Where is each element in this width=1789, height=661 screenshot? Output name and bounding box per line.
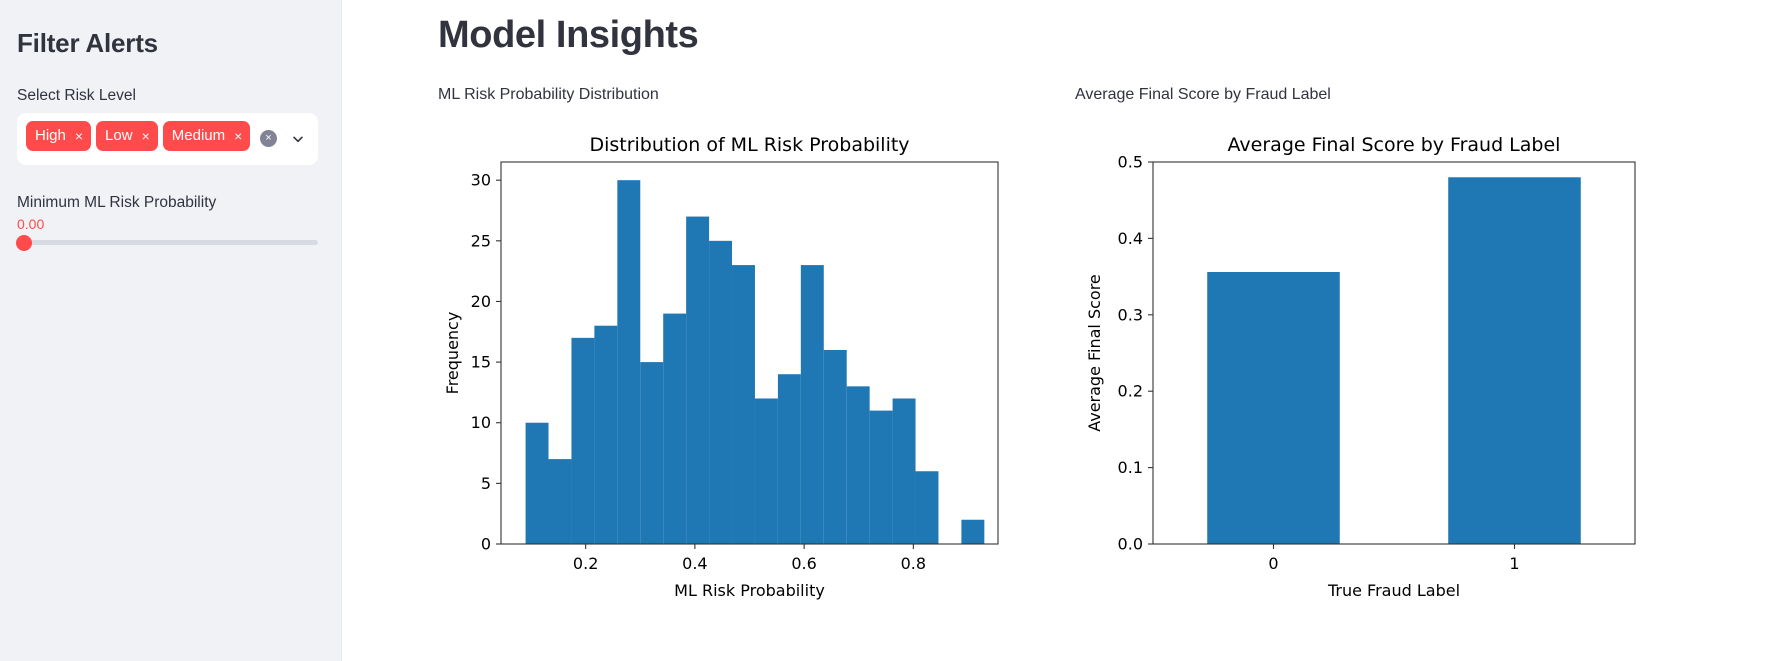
histogram-bar — [617, 180, 640, 544]
histogram-bar — [801, 265, 824, 544]
column-histogram: ML Risk Probability Distribution Distrib… — [342, 84, 1022, 624]
y-tick-label: 0.3 — [1118, 305, 1143, 324]
multiselect-controls: × — [254, 121, 311, 147]
page-title: Model Insights — [438, 12, 1789, 60]
sidebar: Filter Alerts Select Risk Level High × L… — [0, 0, 342, 661]
risk-tag-high-label: High — [35, 128, 66, 143]
y-tick-label: 0 — [481, 534, 491, 553]
min-risk-probability-label: Minimum ML Risk Probability — [17, 193, 318, 213]
histogram-bar — [663, 313, 686, 543]
risk-level-tag-list: High × Low × Medium × — [26, 121, 254, 151]
histogram-caption: ML Risk Probability Distribution — [438, 84, 1022, 106]
histogram-bar — [709, 241, 732, 544]
histogram-xlabel: ML Risk Probability — [674, 581, 825, 600]
min-risk-probability-value: 0.00 — [17, 217, 318, 231]
histogram-bar — [824, 350, 847, 544]
histogram-bar — [526, 423, 549, 544]
column-barchart: Average Final Score by Fraud Label Avera… — [1022, 84, 1702, 624]
barchart-title: Average Final Score by Fraud Label — [1228, 134, 1561, 156]
barchart-ylabel: Average Final Score — [1085, 274, 1104, 432]
chart-columns: ML Risk Probability Distribution Distrib… — [342, 84, 1789, 624]
x-tick-label: 0.2 — [573, 554, 598, 573]
slider-thumb[interactable] — [16, 235, 32, 251]
barchart-figure: Average Final Score by Fraud Label0.00.1… — [1075, 124, 1702, 624]
risk-level-multiselect[interactable]: High × Low × Medium × × — [17, 113, 318, 165]
y-tick-label: 10 — [471, 413, 491, 432]
histogram-figure: Distribution of ML Risk Probability05101… — [438, 124, 1022, 624]
histogram-chart: Distribution of ML Risk Probability05101… — [438, 124, 1018, 624]
risk-tag-medium-remove-icon[interactable]: × — [234, 129, 242, 143]
y-tick-label: 0.1 — [1118, 458, 1143, 477]
risk-tag-low-label: Low — [105, 128, 133, 143]
clear-all-icon[interactable]: × — [260, 130, 277, 147]
barchart-bars — [1207, 177, 1581, 544]
y-tick-label: 0.2 — [1118, 382, 1143, 401]
min-risk-probability-slider[interactable] — [17, 240, 318, 245]
barchart-xlabel: True Fraud Label — [1327, 581, 1460, 600]
risk-tag-high-remove-icon[interactable]: × — [75, 129, 83, 143]
y-tick-label: 20 — [471, 292, 491, 311]
histogram-bar — [640, 362, 663, 544]
main-content: Model Insights ML Risk Probability Distr… — [342, 0, 1789, 661]
barchart-caption: Average Final Score by Fraud Label — [1075, 84, 1702, 106]
app-root: Filter Alerts Select Risk Level High × L… — [0, 0, 1789, 661]
risk-level-label: Select Risk Level — [17, 86, 318, 106]
histogram-bar — [594, 326, 617, 544]
histogram-bar — [571, 338, 594, 544]
x-tick-label: 0.4 — [682, 554, 707, 573]
histogram-bar — [549, 459, 572, 544]
y-tick-label: 5 — [481, 474, 491, 493]
histogram-bar — [778, 374, 801, 544]
risk-tag-low[interactable]: Low × — [96, 121, 158, 151]
y-tick-label: 25 — [471, 231, 491, 250]
barchart-bar — [1207, 272, 1340, 544]
histogram-bar — [893, 398, 916, 544]
histogram-bar — [870, 410, 893, 543]
y-tick-label: 15 — [471, 352, 491, 371]
histogram-bar — [961, 520, 984, 544]
histogram-bars — [526, 180, 985, 544]
risk-tag-medium[interactable]: Medium × — [163, 121, 251, 151]
x-tick-label: 0.8 — [901, 554, 926, 573]
risk-tag-medium-label: Medium — [172, 128, 225, 143]
histogram-bar — [732, 265, 755, 544]
histogram-bar — [755, 398, 778, 544]
risk-tag-high[interactable]: High × — [26, 121, 91, 151]
risk-tag-low-remove-icon[interactable]: × — [142, 129, 150, 143]
barchart-bar — [1448, 177, 1581, 544]
y-tick-label: 0.0 — [1118, 534, 1143, 553]
y-tick-label: 30 — [471, 171, 491, 190]
avg-final-score-chart: Average Final Score by Fraud Label0.00.1… — [1075, 124, 1655, 624]
histogram-title: Distribution of ML Risk Probability — [589, 134, 909, 156]
sidebar-title: Filter Alerts — [17, 28, 318, 59]
histogram-ylabel: Frequency — [443, 312, 462, 395]
x-tick-label: 1 — [1509, 554, 1519, 573]
y-tick-label: 0.4 — [1118, 229, 1143, 248]
histogram-bar — [916, 471, 939, 544]
x-tick-label: 0 — [1268, 554, 1278, 573]
chevron-down-icon[interactable] — [290, 131, 306, 147]
x-tick-label: 0.6 — [791, 554, 816, 573]
y-tick-label: 0.5 — [1118, 152, 1143, 171]
histogram-bar — [686, 216, 709, 543]
histogram-bar — [847, 386, 870, 544]
